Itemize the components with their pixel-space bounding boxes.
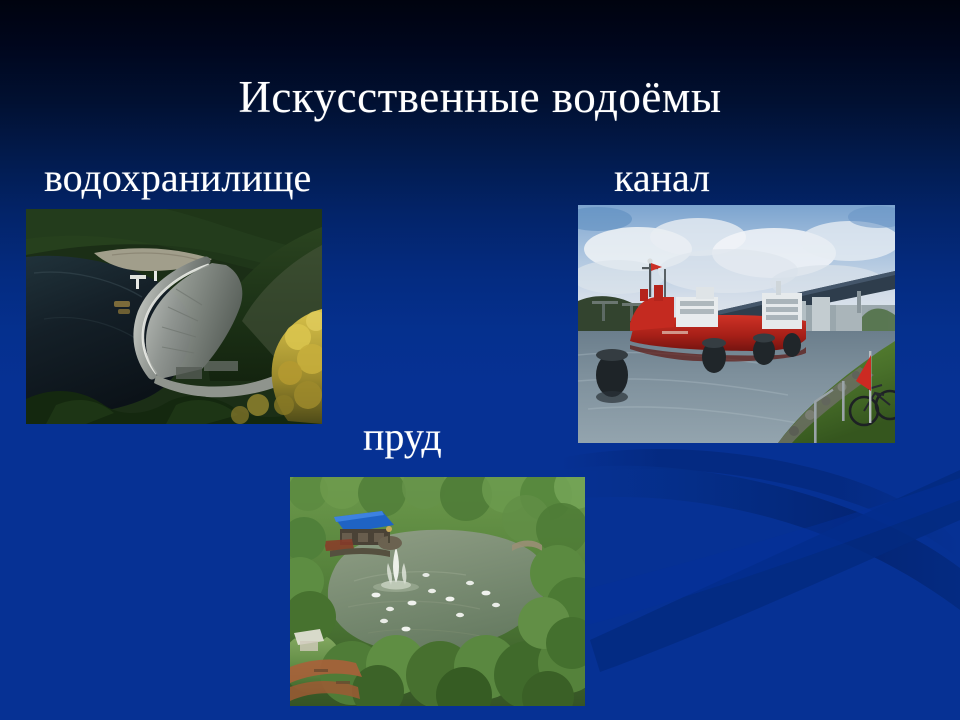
image-canal [578,205,895,443]
image-pond [290,477,585,706]
caption-pond: пруд [363,417,442,457]
caption-reservoir: водохранилище [44,158,311,198]
page-title: Искусственные водоёмы [0,74,960,121]
presentation-slide: Искусственные водоёмы водохранилище кана… [0,0,960,720]
image-reservoir [26,209,322,424]
caption-canal: канал [614,158,710,198]
